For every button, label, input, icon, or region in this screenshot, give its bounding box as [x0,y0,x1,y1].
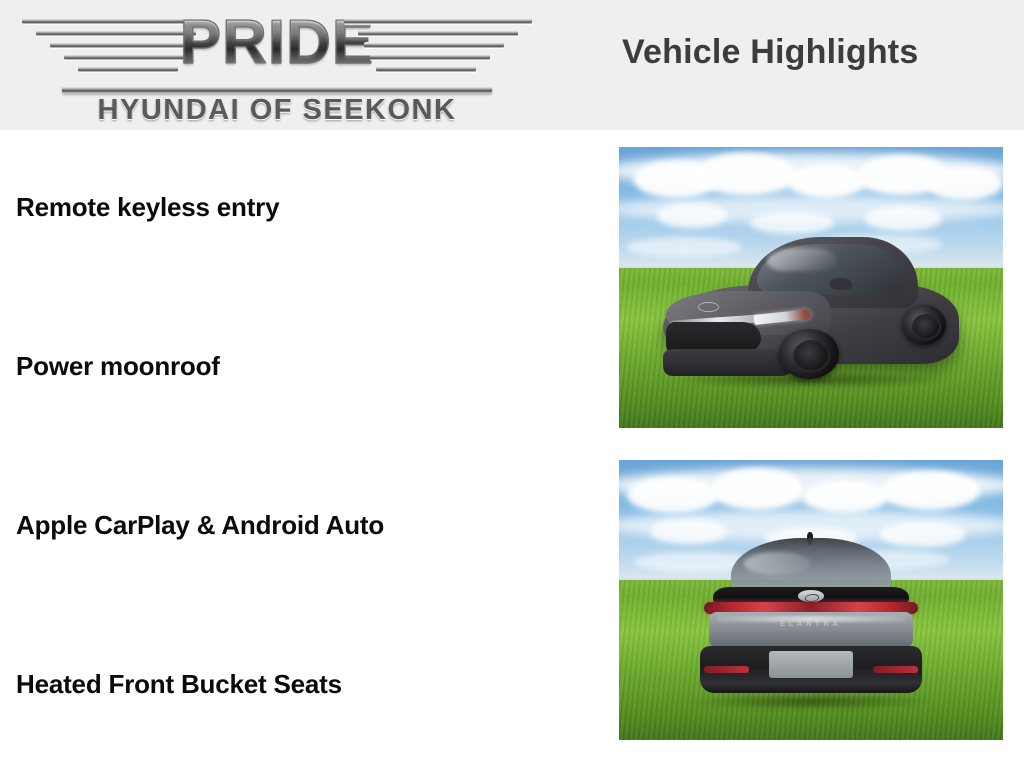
page-title: Vehicle Highlights [622,33,918,72]
vehicle-photo-front[interactable] [619,147,1003,428]
dealer-logo[interactable]: PRIDE HYUNDAI OF SEEKONK [22,4,532,128]
logo-top-row: PRIDE [22,4,532,90]
chrome-wing-right-icon [344,18,532,78]
reflector-icon [873,666,918,673]
logo-underline-bar [62,86,492,93]
feature-item: Remote keyless entry [16,192,279,223]
rear-model-badge: ELANTRA [753,621,869,628]
logo-subtitle: HYUNDAI OF SEEKONK [22,94,532,127]
hyundai-badge-icon [698,302,719,312]
vehicle-photo-rear[interactable]: ELANTRA [619,460,1003,740]
vehicle-features-list: Remote keyless entry Power moonroof Appl… [16,130,606,768]
license-plate-area [769,651,854,678]
car-illustration-front [654,217,969,386]
feature-item: Heated Front Bucket Seats [16,669,342,700]
reflector-icon [704,666,749,673]
wheel-icon [779,329,839,380]
car-illustration-rear: ELANTRA [700,538,923,706]
feature-item: Apple CarPlay & Android Auto [16,510,384,541]
page-header: PRIDE HYUNDAI OF SEEKONK Vehicle Highlig… [0,0,1024,130]
feature-item: Power moonroof [16,351,220,382]
